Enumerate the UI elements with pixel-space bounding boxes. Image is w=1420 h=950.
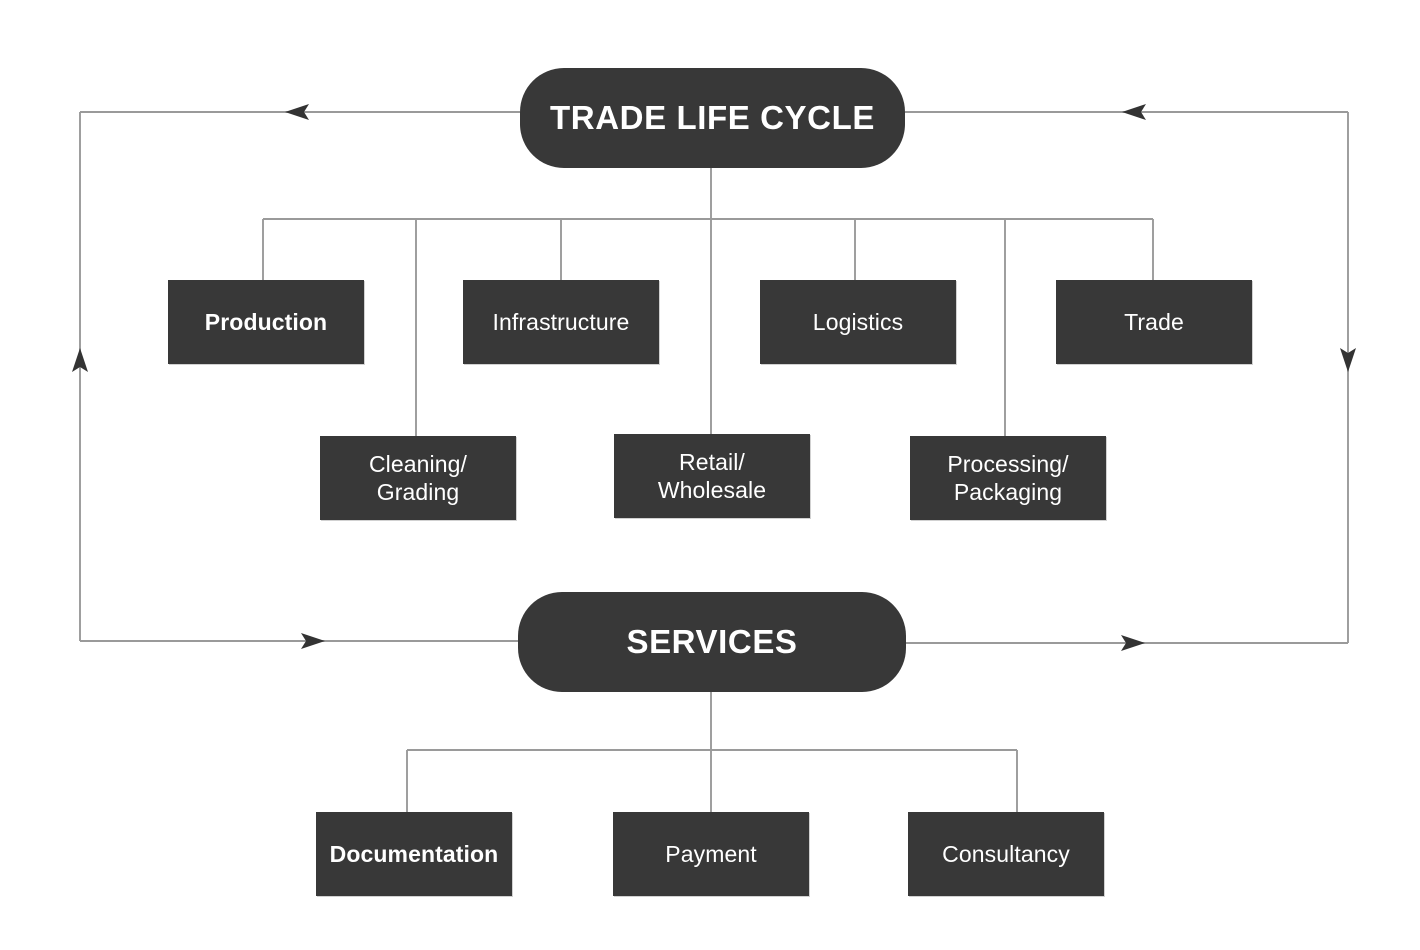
arrow-bottom-right-left xyxy=(1121,635,1145,651)
node-documentation[interactable]: Documentation xyxy=(316,812,512,896)
node-processing-packaging[interactable]: Processing/ Packaging xyxy=(910,436,1106,520)
node-production-label: Production xyxy=(197,308,335,336)
node-payment[interactable]: Payment xyxy=(613,812,809,896)
node-retail-wholesale[interactable]: Retail/ Wholesale xyxy=(614,434,810,518)
diagram-canvas: TRADE LIFE CYCLE SERVICES Production Inf… xyxy=(0,0,1420,950)
node-retail-wholesale-label: Retail/ Wholesale xyxy=(650,448,774,504)
node-cleaning-grading-line2: Grading xyxy=(377,479,460,505)
node-cleaning-grading-line1: Cleaning/ xyxy=(369,451,467,477)
arrow-top-left-right xyxy=(285,104,309,120)
node-consultancy[interactable]: Consultancy xyxy=(908,812,1104,896)
arrow-left-up xyxy=(72,348,88,372)
arrow-right-down xyxy=(1340,348,1356,372)
node-retail-wholesale-line2: Wholesale xyxy=(658,477,766,503)
node-payment-label: Payment xyxy=(657,840,764,868)
hub-trade-life-cycle[interactable]: TRADE LIFE CYCLE xyxy=(520,68,905,168)
node-documentation-label: Documentation xyxy=(322,840,507,868)
node-production[interactable]: Production xyxy=(168,280,364,364)
node-processing-packaging-label: Processing/ Packaging xyxy=(939,450,1076,506)
hub-services[interactable]: SERVICES xyxy=(518,592,906,692)
node-trade[interactable]: Trade xyxy=(1056,280,1252,364)
node-retail-wholesale-line1: Retail/ xyxy=(679,449,745,475)
arrow-bottom-left-left xyxy=(301,633,325,649)
node-cleaning-grading[interactable]: Cleaning/ Grading xyxy=(320,436,516,520)
node-logistics-label: Logistics xyxy=(805,308,911,336)
node-consultancy-label: Consultancy xyxy=(934,840,1078,868)
arrow-top-right-right xyxy=(1122,104,1146,120)
node-cleaning-grading-label: Cleaning/ Grading xyxy=(361,450,475,506)
node-processing-packaging-line1: Processing/ xyxy=(947,451,1068,477)
node-infrastructure[interactable]: Infrastructure xyxy=(463,280,659,364)
node-infrastructure-label: Infrastructure xyxy=(485,308,638,336)
node-logistics[interactable]: Logistics xyxy=(760,280,956,364)
node-trade-label: Trade xyxy=(1116,308,1192,336)
node-processing-packaging-line2: Packaging xyxy=(954,479,1062,505)
flow-arrowheads xyxy=(72,104,1356,651)
hub-trade-life-cycle-label: TRADE LIFE CYCLE xyxy=(550,98,875,138)
hub-services-label: SERVICES xyxy=(626,622,797,662)
